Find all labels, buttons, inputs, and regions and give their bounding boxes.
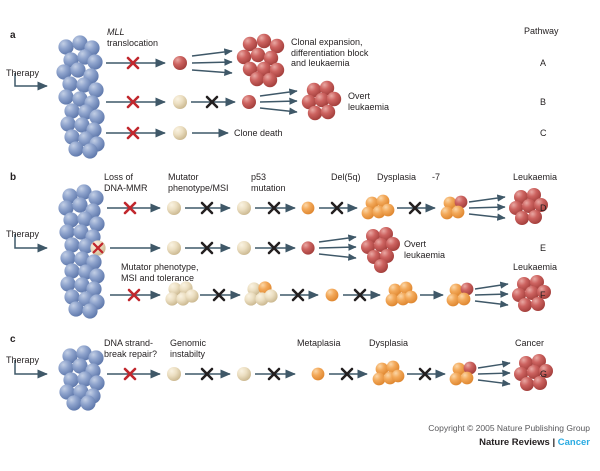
pathway-id-E: E bbox=[540, 243, 546, 253]
outcome-label-A-line2: differentiation block bbox=[291, 48, 368, 59]
mixed-tan-orange-cluster-F bbox=[244, 281, 277, 305]
stage-label-loss-dna-mmr: Loss of DNA-MMR bbox=[104, 172, 148, 193]
blue-cell-mass-b bbox=[58, 184, 105, 318]
orange-cell bbox=[326, 289, 339, 302]
pathway-id-C: C bbox=[540, 128, 547, 138]
red-cell bbox=[301, 241, 314, 254]
tan-cell bbox=[167, 241, 181, 255]
pathway-column-header: Pathway bbox=[524, 26, 559, 36]
orange-cell bbox=[302, 202, 315, 215]
inline-label-leukaemia-F: Leukaemia bbox=[513, 262, 557, 273]
pathway-row-a-C bbox=[106, 126, 228, 140]
stage-label-dysplasia-c: Dysplasia bbox=[369, 338, 408, 349]
red-cell-cluster-overt-leukaemia-E bbox=[361, 227, 400, 273]
therapy-label-b: Therapy bbox=[6, 229, 39, 239]
tan-cell bbox=[173, 126, 187, 140]
brand-accent: Cancer bbox=[558, 437, 590, 448]
stage-label-dna-strand-break-repair: DNA strand- break repair? bbox=[104, 338, 157, 359]
stage-label-mutator-phenotype-msi: Mutator phenotype/MSI bbox=[168, 172, 229, 193]
stage-label-genomic-instability: Genomic instabilty bbox=[170, 338, 206, 359]
stage-label-metaplasia: Metaplasia bbox=[297, 338, 341, 349]
mixed-cell-cluster-G bbox=[450, 362, 477, 386]
panel-letter-a: a bbox=[10, 30, 16, 41]
outcome-label-B-line2: leukaemia bbox=[348, 102, 389, 113]
therapy-label-a: Therapy bbox=[6, 68, 39, 78]
outcome-label-A-line3: and leukaemia bbox=[291, 58, 350, 69]
pathway-row-c-G bbox=[107, 354, 553, 391]
figure-graphics bbox=[0, 0, 600, 471]
outcome-label-C: Clone death bbox=[234, 128, 283, 139]
journal-brand: Nature Reviews | Cancer bbox=[340, 437, 590, 448]
outcome-label-A-line1: Clonal expansion, bbox=[291, 37, 363, 48]
mixed-cell-cluster-F2 bbox=[447, 283, 474, 307]
red-cell-cluster-large-A bbox=[237, 34, 284, 87]
tan-cell bbox=[237, 201, 251, 215]
red-cell-cluster-B bbox=[302, 81, 341, 120]
tan-cell-cluster-F1 bbox=[165, 281, 198, 305]
tan-cell bbox=[173, 95, 187, 109]
mixed-cell-cluster-D bbox=[441, 196, 468, 220]
panel-letter-c: c bbox=[10, 334, 16, 345]
red-cell bbox=[242, 95, 256, 109]
pathway-id-G: G bbox=[540, 369, 547, 379]
figure-root: a Therapy MLL translocation Clonal expan… bbox=[0, 0, 600, 471]
stage-label-mll: MLL bbox=[107, 27, 125, 38]
tan-cell bbox=[167, 201, 181, 215]
stage-label-minus7: -7 bbox=[432, 172, 440, 183]
tan-cell bbox=[237, 241, 251, 255]
outcome-label-B-line1: Overt bbox=[348, 91, 370, 102]
stage-label-del5q: Del(5q) bbox=[331, 172, 361, 183]
pathway-id-F: F bbox=[540, 290, 546, 300]
pathway-id-D: D bbox=[540, 203, 547, 213]
inline-label-mutator-tolerance: Mutator phenotype, MSI and tolerance bbox=[121, 262, 199, 283]
copyright-text: Copyright © 2005 Nature Publishing Group bbox=[340, 423, 590, 433]
orange-cell-cluster-dysplasia-G bbox=[373, 361, 405, 386]
pathway-id-A: A bbox=[540, 58, 546, 68]
brand-main: Nature Reviews bbox=[479, 437, 550, 448]
tan-cell bbox=[167, 367, 181, 381]
blue-cell-mass-c bbox=[58, 345, 104, 410]
inline-label-overt-leukaemia-E: Overt leukaemia bbox=[404, 239, 445, 260]
pathway-id-B: B bbox=[540, 97, 546, 107]
stage-label-p53-mutation: p53 mutation bbox=[251, 172, 286, 193]
orange-cell-cluster-dysplasia-F bbox=[386, 282, 418, 307]
stage-label-leukaemia-D: Leukaemia bbox=[513, 172, 557, 183]
stage-label-dysplasia: Dysplasia bbox=[377, 172, 416, 183]
pathway-row-a-B bbox=[106, 81, 341, 120]
red-cell bbox=[173, 56, 187, 70]
panel-letter-b: b bbox=[10, 172, 16, 183]
pathway-row-b-D bbox=[107, 188, 548, 225]
brand-separator: | bbox=[550, 437, 558, 448]
orange-cell bbox=[312, 368, 325, 381]
stage-label-cancer: Cancer bbox=[515, 338, 544, 349]
therapy-label-c: Therapy bbox=[6, 355, 39, 365]
tan-cell bbox=[237, 367, 251, 381]
red-cell-cluster-cancer-G bbox=[514, 354, 553, 391]
stage-label-translocation: translocation bbox=[107, 38, 158, 49]
blue-cell-mass-a bbox=[56, 35, 104, 158]
orange-cell-cluster-dysplasia-D bbox=[362, 195, 395, 220]
